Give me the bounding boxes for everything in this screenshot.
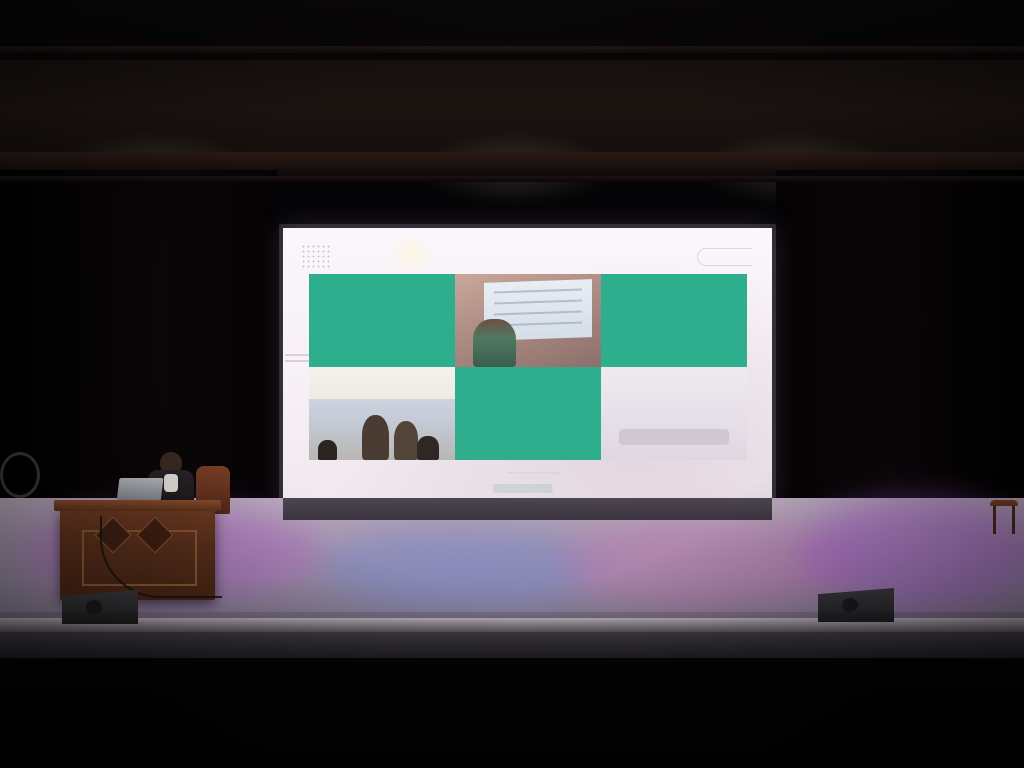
lighting-truss-front [0,176,1024,264]
watermark [493,484,553,493]
presenter-figure [473,319,517,367]
slide-card-grid [309,274,747,460]
card-moral-character [309,274,455,367]
slide-footer [283,472,772,498]
conference-table [619,429,730,445]
student-figure [318,440,337,460]
auditorium-photo [0,0,1024,768]
card-social-responsibility [601,274,747,367]
wall-emblem-icon [0,452,40,498]
stool [990,500,1018,534]
student-figure [417,436,439,460]
projection-screen [283,228,772,504]
bars-decoration [285,354,311,368]
calligraphy-text [309,367,455,399]
students-photo [309,367,455,460]
screen-skirt [283,498,772,520]
lecture-photo [455,274,601,367]
meeting-photo [601,367,747,460]
presentation-slide [283,228,772,504]
student-figure [362,415,390,460]
audience-seating [0,612,1024,768]
student-figure [394,421,419,460]
card-learning-motivation [455,367,601,460]
lighting-truss-top [0,46,1024,53]
